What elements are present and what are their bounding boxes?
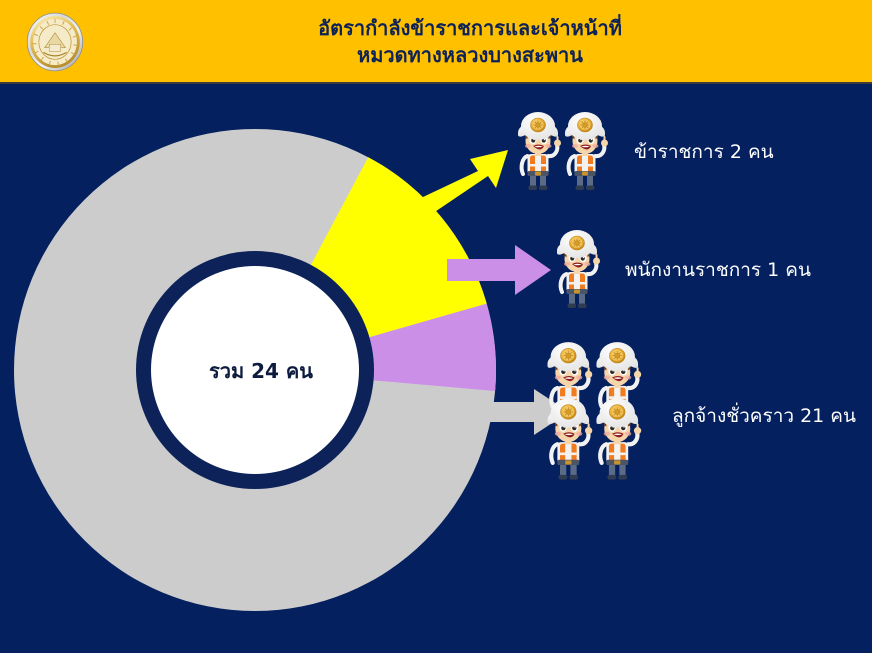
legend-label-civil-servants: ข้าราชการ 2 คน	[634, 143, 774, 162]
arrow-up-right-icon	[400, 148, 510, 226]
legend-item-temporary-employees[interactable]: ลูกจ้างชั่วคราว 21 คน	[538, 338, 856, 494]
title-line-2: หมวดทางหลวงบางสะพาน	[357, 45, 583, 66]
worker-group-4	[538, 338, 658, 494]
page-title: อัตรากำลังข้าราชการและเจ้าหน้าที่ หมวดทา…	[120, 0, 820, 84]
arrow-right-icon-purple	[447, 243, 552, 298]
worker-figure-icon	[538, 338, 658, 490]
worker-figure-icon	[512, 104, 620, 196]
legend-label-temporary-employees: ลูกจ้างชั่วคราว 21 คน	[672, 407, 856, 426]
worker-group-2	[512, 104, 620, 200]
legend-item-government-staff[interactable]: พนักงานราชการ 1 คน	[545, 222, 811, 318]
government-seal-icon	[26, 12, 84, 72]
legend-label-government-staff: พนักงานราชการ 1 คน	[625, 261, 811, 280]
slide-canvas: อัตรากำลังข้าราชการและเจ้าหน้าที่ หมวดทา…	[0, 0, 872, 653]
donut-center-label: รวม 24 คน	[156, 355, 366, 387]
title-line-1: อัตรากำลังข้าราชการและเจ้าหน้าที่	[318, 18, 622, 39]
legend-item-civil-servants[interactable]: ข้าราชการ 2 คน	[512, 104, 774, 200]
worker-group-1	[545, 222, 607, 318]
worker-figure-icon	[545, 222, 607, 314]
header-banner: อัตรากำลังข้าราชการและเจ้าหน้าที่ หมวดทา…	[0, 0, 872, 84]
